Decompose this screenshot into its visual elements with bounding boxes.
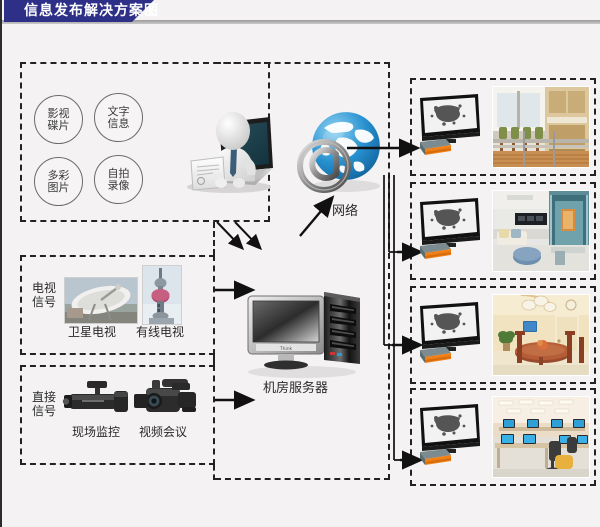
satellite-dish-photo bbox=[64, 277, 138, 324]
source-circle-text-info: 文字 信息 bbox=[94, 93, 143, 142]
warm-dining-room-photo bbox=[492, 294, 590, 376]
media-player-box bbox=[416, 138, 452, 158]
tv-screen-icon bbox=[414, 300, 484, 352]
desktop-tower-icon: Think bbox=[240, 288, 368, 380]
core-box-edge-mid bbox=[213, 355, 217, 365]
source-circle-line1: 自拍 bbox=[108, 168, 130, 180]
source-circle-line2: 录像 bbox=[108, 180, 130, 192]
core-box-edge-bottom bbox=[213, 465, 217, 480]
direct-signal-label-line2: 信号 bbox=[32, 404, 56, 418]
core-box-edge-top bbox=[213, 222, 217, 255]
source-circle-line2: 碟片 bbox=[48, 120, 70, 132]
tv-screen-icon bbox=[414, 196, 484, 248]
direct-signal-label: 直接 信号 bbox=[32, 390, 56, 418]
direct-signal-label-line1: 直接 bbox=[32, 390, 56, 404]
media-player-box bbox=[416, 242, 452, 262]
cable-tv-label: 有线电视 bbox=[136, 325, 184, 339]
svg-text:Think: Think bbox=[279, 346, 293, 352]
media-player-box bbox=[416, 448, 452, 468]
tv-signal-label-line1: 电视 bbox=[32, 281, 56, 295]
source-circle-images: 多彩 图片 bbox=[34, 157, 83, 206]
office-computer-lab-photo bbox=[492, 396, 590, 478]
source-circle-video-disc: 影视 碟片 bbox=[34, 95, 83, 144]
tv-signal-label: 电视 信号 bbox=[32, 281, 56, 309]
display-panel-1-content bbox=[410, 78, 596, 176]
camcorder-icon bbox=[132, 374, 202, 422]
tv-screen-icon bbox=[414, 92, 484, 144]
globe-at-icon bbox=[294, 100, 390, 200]
dining-kitchen-room-photo bbox=[492, 86, 590, 168]
header-banner: 信息发布解决方案图 bbox=[2, 0, 600, 26]
page-title: 信息发布解决方案图 bbox=[24, 2, 159, 21]
source-circle-line1: 文字 bbox=[108, 106, 130, 118]
source-circle-line2: 信息 bbox=[108, 118, 130, 130]
site-monitoring-label: 现场监控 bbox=[72, 425, 120, 439]
cctv-camera-icon bbox=[62, 378, 136, 422]
video-conference-label: 视频会议 bbox=[139, 425, 187, 439]
display-panel-4-content bbox=[410, 388, 596, 486]
satellite-tv-label: 卫星电视 bbox=[68, 325, 116, 339]
modern-living-room-photo bbox=[492, 190, 590, 272]
diagram-page: 信息发布解决方案图 影视 碟片 文字 信息 多彩 图片 自拍 录像 bbox=[0, 0, 600, 527]
source-circle-line2: 图片 bbox=[48, 182, 70, 194]
display-panel-3-content bbox=[410, 286, 596, 384]
tv-screen-icon bbox=[414, 402, 484, 454]
source-circle-line1: 影视 bbox=[48, 108, 70, 120]
source-circle-line1: 多彩 bbox=[48, 170, 70, 182]
source-circle-self-video: 自拍 录像 bbox=[94, 155, 143, 204]
person-with-laptop-icon bbox=[177, 95, 277, 195]
network-label: 网络 bbox=[332, 205, 358, 219]
server-label: 机房服务器 bbox=[263, 382, 328, 396]
media-player-box bbox=[416, 346, 452, 366]
display-panel-2-content bbox=[410, 182, 596, 280]
tv-signal-label-line2: 信号 bbox=[32, 295, 56, 309]
tv-tower-photo bbox=[142, 265, 182, 325]
